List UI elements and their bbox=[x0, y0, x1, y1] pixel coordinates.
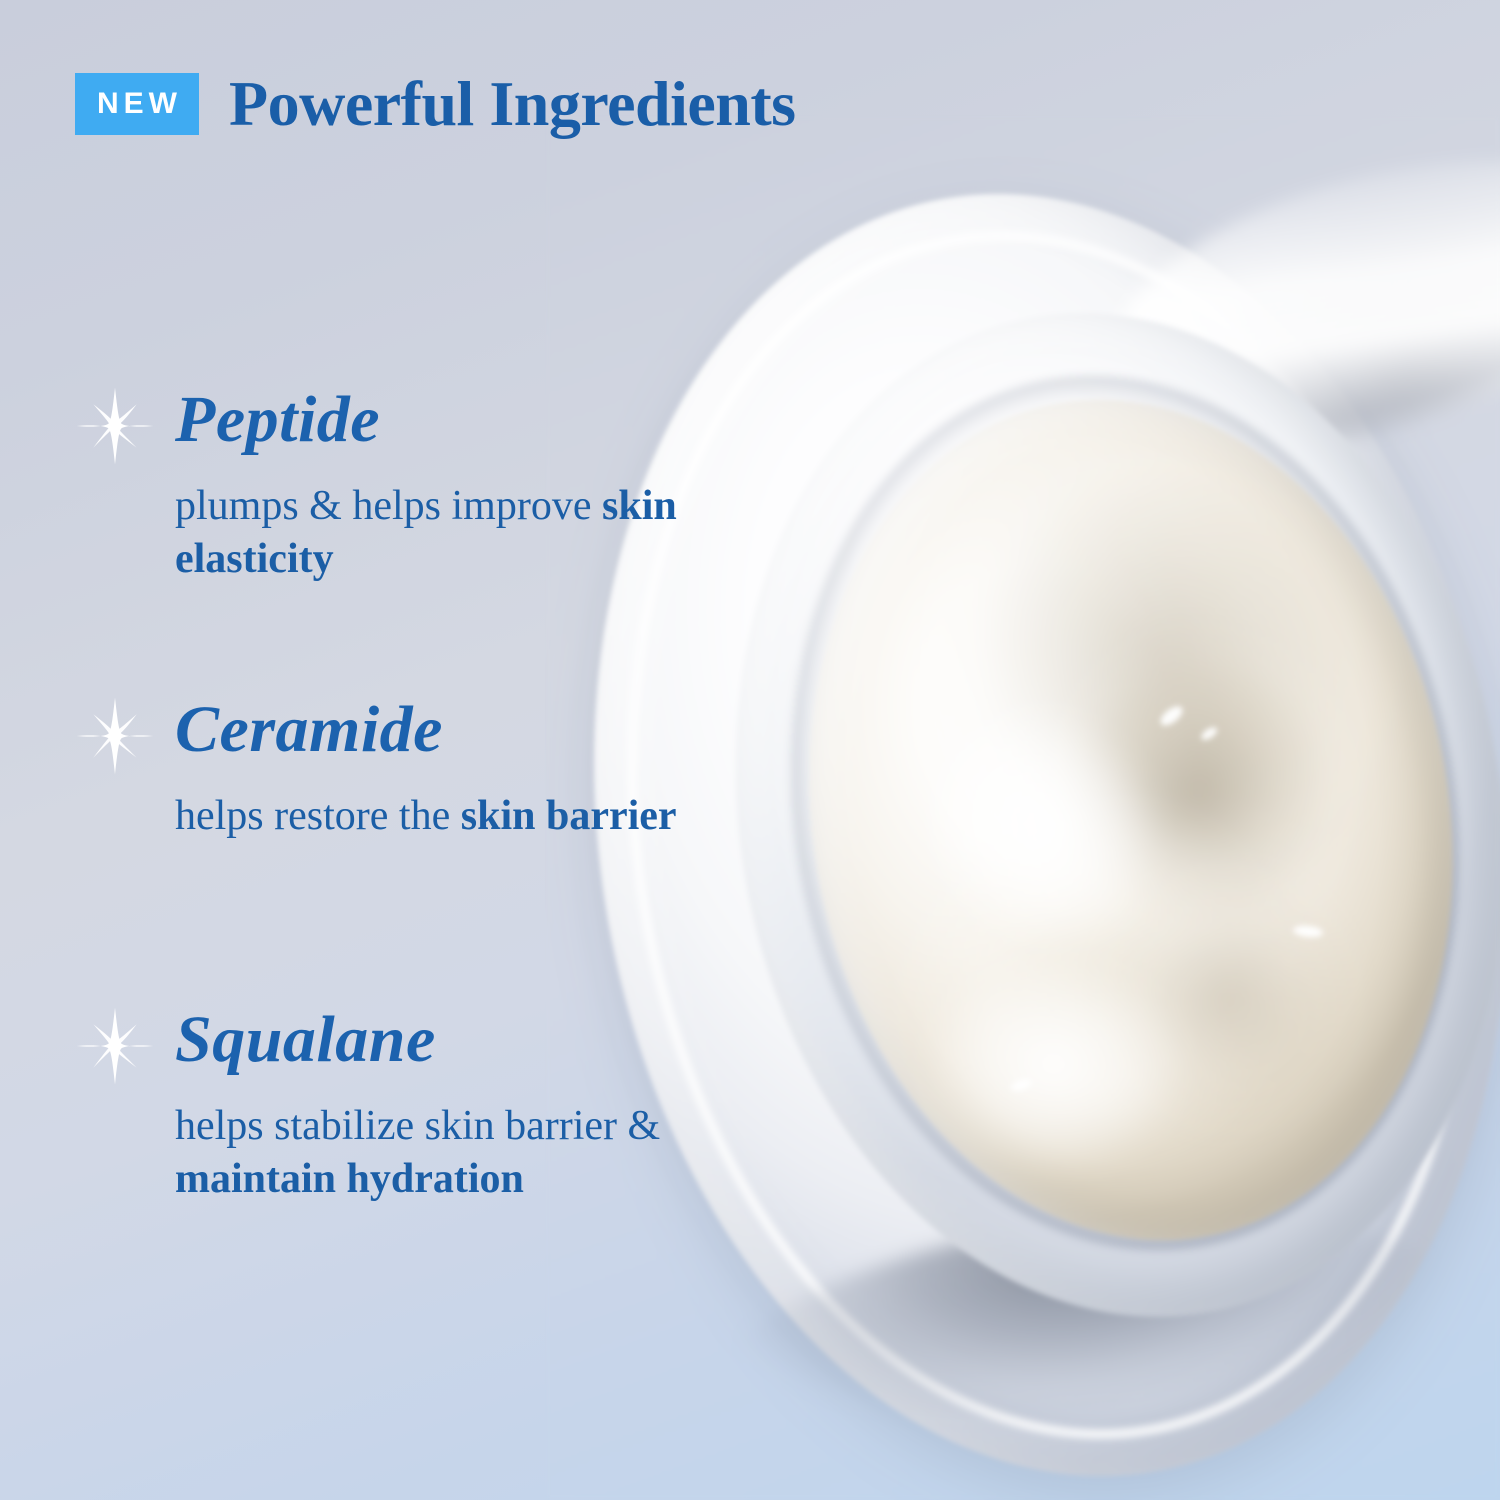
jar-bottom-edge-shadow bbox=[680, 1172, 1500, 1500]
sparkle-icon bbox=[75, 1006, 155, 1086]
ingredient-description: helps stabilize skin barrier & maintain … bbox=[175, 1100, 715, 1205]
ingredient-description: plumps & helps improve skin elasticity bbox=[175, 480, 715, 585]
ingredient-name: Squalane bbox=[175, 998, 436, 1082]
new-badge: NEW bbox=[75, 73, 199, 135]
page-title: Powerful Ingredients bbox=[229, 72, 796, 136]
jar-inner-rim bbox=[658, 252, 1500, 1379]
ingredient-description: helps restore the skin barrier bbox=[175, 790, 715, 843]
jar-top-edge-shadow bbox=[983, 115, 1500, 512]
cream-surface bbox=[744, 348, 1500, 1292]
ingredient-item-peptide: Peptide plumps & helps improve skin elas… bbox=[75, 382, 715, 585]
content-column: NEW Powerful Ingredients Peptide plumps … bbox=[0, 0, 720, 1500]
sparkle-icon bbox=[75, 386, 155, 466]
ingredient-heading-row: Ceramide bbox=[75, 692, 715, 776]
cream-swirl-band bbox=[750, 348, 1500, 1155]
ingredient-heading-row: Peptide bbox=[75, 382, 715, 466]
cream-specular-glint bbox=[1199, 725, 1219, 743]
ingredient-description-lead: plumps & helps improve bbox=[175, 483, 591, 529]
ingredient-description-emphasis: skin barrier bbox=[461, 793, 677, 839]
jar-top-edge-highlight bbox=[1083, 115, 1500, 489]
cream-specular-glint bbox=[1293, 925, 1324, 939]
promo-canvas: NEW Powerful Ingredients Peptide plumps … bbox=[0, 0, 1500, 1500]
ingredient-name: Ceramide bbox=[175, 688, 443, 772]
ingredient-item-squalane: Squalane helps stabilize skin barrier & … bbox=[75, 1002, 715, 1205]
cream-highlight bbox=[840, 614, 1272, 1053]
cream-swirl-band bbox=[1003, 792, 1429, 1230]
cream-highlight bbox=[903, 931, 1231, 1230]
ingredient-description-lead: helps restore the bbox=[175, 793, 450, 839]
header: NEW Powerful Ingredients bbox=[75, 72, 796, 136]
ingredient-item-ceramide: Ceramide helps restore the skin barrier bbox=[75, 692, 715, 843]
cream-specular-glint bbox=[1157, 703, 1185, 729]
ingredient-name: Peptide bbox=[175, 378, 380, 462]
ingredient-description-lead: helps stabilize skin barrier & bbox=[175, 1103, 660, 1149]
cream-swirl-band bbox=[957, 522, 1489, 1069]
sparkle-icon bbox=[75, 696, 155, 776]
cream-swirl-band bbox=[796, 701, 1419, 1292]
jar-inner-shadow-ring bbox=[724, 322, 1500, 1303]
cream-specular-glint bbox=[1009, 1077, 1033, 1093]
ingredient-heading-row: Squalane bbox=[75, 1002, 715, 1086]
ingredient-description-emphasis: maintain hydration bbox=[175, 1156, 524, 1202]
